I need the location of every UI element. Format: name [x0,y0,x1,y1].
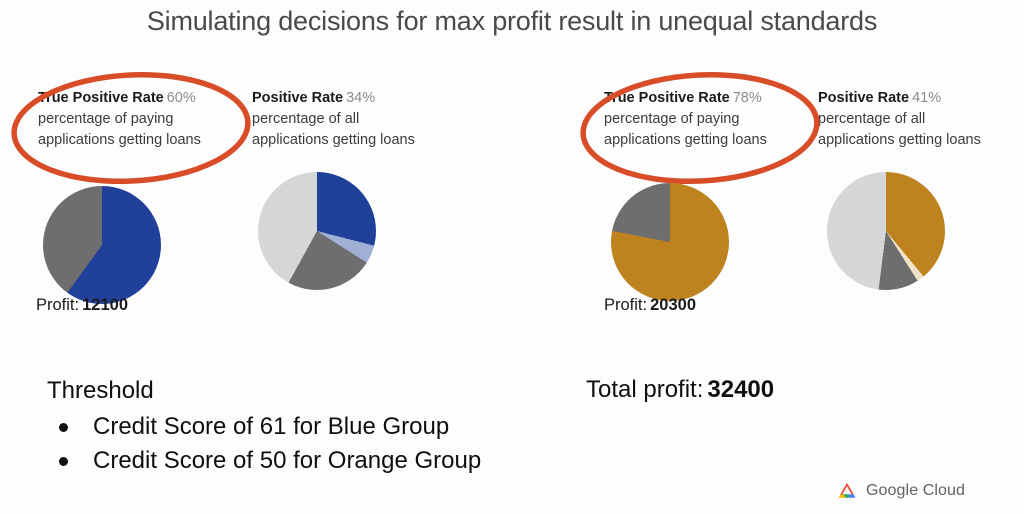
metric-orange-true-positive-rate: True Positive Rate78% percentage of payi… [604,88,819,150]
profit-label: Profit: [36,296,79,314]
bullet-icon [59,457,68,466]
metric-orange-positive-rate: Positive Rate41% percentage of all appli… [818,88,1024,150]
profit-blue-group: Profit:12100 [36,296,128,315]
slide-canvas: Simulating decisions for max profit resu… [0,0,1024,514]
page-title: Simulating decisions for max profit resu… [0,6,1024,37]
metric-heading: Positive Rate34% [252,88,467,108]
metric-heading: True Positive Rate78% [604,88,819,108]
metric-description-line-2: applications getting loans [252,132,415,148]
threshold-title: Threshold [47,376,481,406]
total-profit-label: Total profit: [586,376,703,403]
total-profit: Total profit:32400 [586,376,774,404]
google-cloud-wordmark: Google Cloud [866,482,965,500]
metric-blue-positive-rate: Positive Rate34% percentage of all appli… [252,88,467,150]
threshold-list: Credit Score of 61 for Blue Group Credit… [47,410,481,478]
metric-description: percentage of paying applications gettin… [604,109,819,150]
metric-description-line-1: percentage of paying [38,111,173,127]
metric-description-line-1: percentage of paying [604,111,739,127]
pie-chart-blue-true-positive-rate [43,186,161,304]
list-item-label: Credit Score of 61 for Blue Group [93,413,449,440]
list-item: Credit Score of 61 for Blue Group [47,410,481,444]
pie-chart-orange-positive-rate [827,172,945,290]
metric-description: percentage of paying applications gettin… [38,109,253,150]
pie-chart-orange-true-positive-rate [611,183,729,301]
pie-chart-blue-positive-rate [258,172,376,290]
metric-label: True Positive Rate [38,90,164,106]
metric-value: 34% [346,90,375,106]
profit-label: Profit: [604,296,647,314]
metric-label: Positive Rate [252,90,343,106]
metric-description-line-2: applications getting loans [38,132,201,148]
threshold-section: Threshold Credit Score of 61 for Blue Gr… [47,376,481,478]
metric-description: percentage of all applications getting l… [818,109,1024,150]
metric-description-line-1: percentage of all [252,111,359,127]
metric-description-line-2: applications getting loans [604,132,767,148]
metric-blue-true-positive-rate: True Positive Rate60% percentage of payi… [38,88,253,150]
metric-heading: Positive Rate41% [818,88,1024,108]
metric-label: Positive Rate [818,90,909,106]
total-profit-value: 32400 [707,376,774,403]
list-item: Credit Score of 50 for Orange Group [47,444,481,478]
profit-value: 12100 [82,296,128,314]
profit-orange-group: Profit:20300 [604,296,696,315]
metric-value: 41% [912,90,941,106]
metric-value: 78% [733,90,762,106]
metric-description-line-2: applications getting loans [818,132,981,148]
metric-heading: True Positive Rate60% [38,88,253,108]
metric-value: 60% [167,90,196,106]
google-cloud-logo-icon [836,481,858,501]
bullet-icon [59,423,68,432]
metric-description: percentage of all applications getting l… [252,109,467,150]
metric-label: True Positive Rate [604,90,730,106]
google-cloud-branding: Google Cloud [836,481,965,501]
profit-value: 20300 [650,296,696,314]
metric-description-line-1: percentage of all [818,111,925,127]
list-item-label: Credit Score of 50 for Orange Group [93,447,481,474]
